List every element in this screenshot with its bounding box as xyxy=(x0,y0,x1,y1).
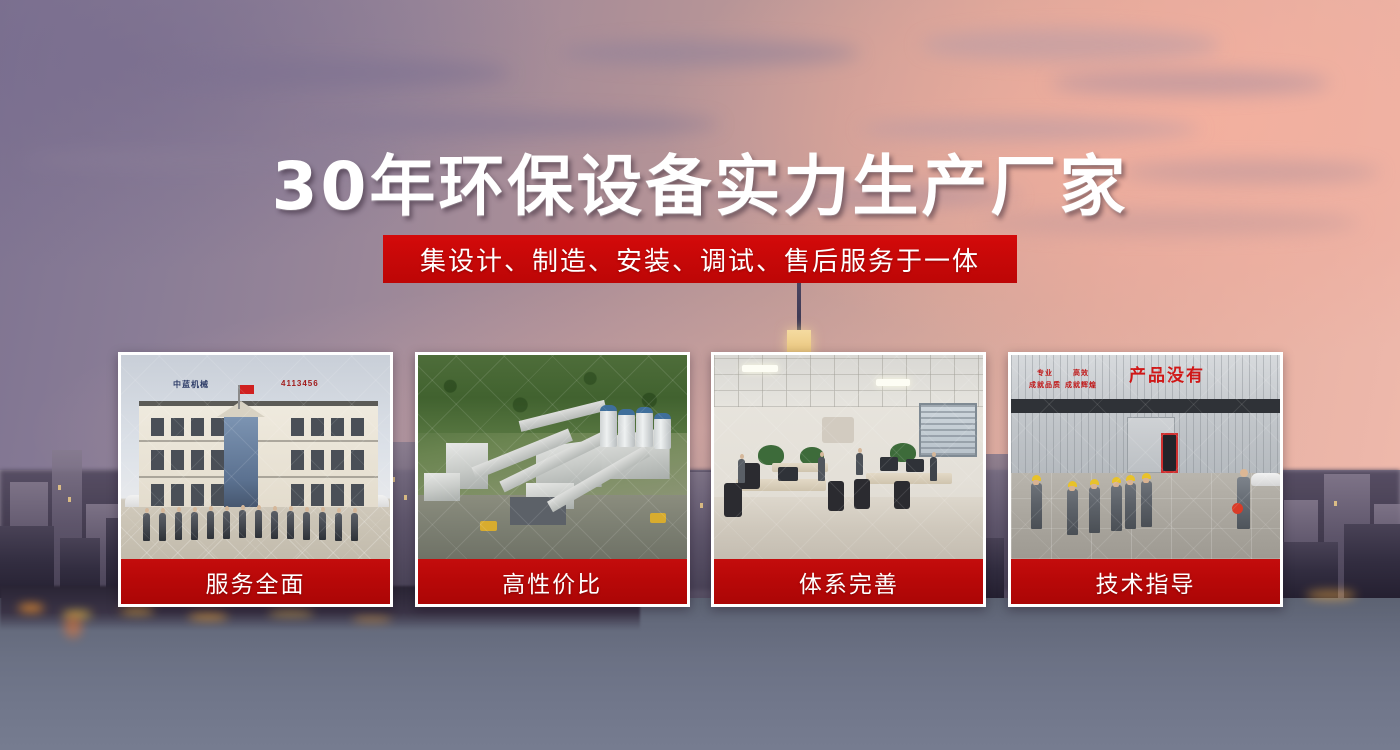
plant-building xyxy=(424,473,460,501)
shore-light xyxy=(64,616,82,638)
computer-monitor xyxy=(778,467,798,481)
office-window xyxy=(919,403,977,457)
card-photo: 产品没有 专业 成就品质 高效 成就辉煌 xyxy=(1011,355,1280,559)
card-label-bar: 技术指导 xyxy=(1011,559,1280,604)
national-flag xyxy=(240,385,254,394)
wall-decoration xyxy=(822,417,854,443)
building-entrance xyxy=(224,413,258,509)
potted-plant xyxy=(758,445,784,465)
card-label-text: 体系完善 xyxy=(799,565,899,599)
shore-light xyxy=(268,610,314,616)
card-label-bar: 高性价比 xyxy=(418,559,687,604)
ceiling-light xyxy=(876,379,910,386)
card-label-text: 技术指导 xyxy=(1095,565,1195,599)
card-photo xyxy=(714,355,983,559)
feature-card[interactable]: 产品没有 专业 成就品质 高效 成就辉煌 xyxy=(1008,352,1283,607)
worker xyxy=(1111,485,1122,531)
staff-person xyxy=(319,512,326,540)
shore-light xyxy=(188,613,228,620)
page-title: 30年环保设备实力生产厂家 xyxy=(0,133,1400,229)
staff-person xyxy=(223,511,230,539)
window-light xyxy=(68,497,71,502)
card-label-text: 服务全面 xyxy=(206,565,306,599)
worker xyxy=(1031,483,1042,529)
promo-banner: 30年环保设备实力生产厂家 集设计、制造、安装、调试、售后服务于一体 xyxy=(0,0,1400,750)
card-photo xyxy=(418,355,687,559)
excavator xyxy=(650,513,666,523)
office-employee xyxy=(930,457,937,481)
factory-side-door xyxy=(1161,433,1178,473)
subtitle-text: 集设计、制造、安装、调试、售后服务于一体 xyxy=(420,241,980,278)
cloud-shape xyxy=(1050,70,1330,96)
shore-light xyxy=(18,604,44,612)
cloud-shape xyxy=(560,40,860,66)
staff-person xyxy=(271,511,278,539)
window-light xyxy=(58,485,61,490)
ceiling-light xyxy=(742,365,778,372)
feature-card-list: 中蓝机械 4113456 服务全面 xyxy=(118,352,1283,607)
staff-person xyxy=(207,511,214,539)
staff-person xyxy=(191,512,198,540)
staff-person xyxy=(239,510,246,538)
storage-silo xyxy=(618,409,635,447)
staff-person xyxy=(303,512,310,540)
computer-monitor xyxy=(880,457,898,471)
storage-silo xyxy=(636,407,653,447)
cloud-shape xyxy=(150,58,510,88)
office-chair xyxy=(854,479,870,509)
staff-person xyxy=(175,512,182,540)
computer-monitor xyxy=(906,459,924,472)
shore-light xyxy=(352,616,392,622)
supervisor xyxy=(1237,477,1250,529)
staff-person xyxy=(351,513,358,541)
card-label-text: 高性价比 xyxy=(502,565,602,599)
staff-person xyxy=(143,513,150,541)
factory-sign-small: 高效 xyxy=(1073,369,1089,377)
office-employee xyxy=(738,459,745,483)
storage-silo xyxy=(600,405,617,447)
excavator xyxy=(480,521,497,531)
office-ceiling xyxy=(714,355,983,407)
red-helmet-icon xyxy=(1232,503,1243,514)
factory-sign-small: 成就品质 xyxy=(1029,381,1061,389)
building-sign-text: 中蓝机械 xyxy=(173,379,209,390)
feature-card[interactable]: 中蓝机械 4113456 服务全面 xyxy=(118,352,393,607)
worker xyxy=(1067,489,1078,535)
factory-sign-small: 专业 xyxy=(1037,369,1053,377)
storage-silo xyxy=(654,413,671,449)
shore-light xyxy=(1306,590,1356,600)
office-chair xyxy=(894,481,910,509)
office-floor xyxy=(714,497,983,559)
building-phone-text: 4113456 xyxy=(281,379,319,388)
staff-person xyxy=(335,513,342,541)
staff-person xyxy=(255,510,262,538)
window-light xyxy=(1334,501,1337,506)
worker xyxy=(1089,487,1100,533)
office-employee xyxy=(818,457,825,481)
card-label-bar: 服务全面 xyxy=(121,559,390,604)
card-photo: 中蓝机械 4113456 xyxy=(121,355,390,559)
worker xyxy=(1125,483,1136,529)
staff-person xyxy=(287,511,294,539)
card-label-bar: 体系完善 xyxy=(714,559,983,604)
office-employee xyxy=(856,453,863,475)
cloud-shape xyxy=(920,28,1220,62)
subtitle-banner: 集设计、制造、安装、调试、售后服务于一体 xyxy=(383,235,1017,283)
factory-window-band xyxy=(1011,399,1280,413)
staff-person xyxy=(159,513,166,541)
building xyxy=(1344,524,1400,600)
factory-sign-small: 成就辉煌 xyxy=(1065,381,1097,389)
shore-light xyxy=(120,607,154,614)
factory-sign-text: 产品没有 xyxy=(1129,361,1205,386)
feature-card[interactable]: 高性价比 xyxy=(415,352,690,607)
worker xyxy=(1141,481,1152,527)
headquarters-building xyxy=(139,401,378,509)
office-chair xyxy=(828,481,844,511)
parked-car xyxy=(1251,473,1280,486)
feature-card[interactable]: 体系完善 xyxy=(711,352,986,607)
